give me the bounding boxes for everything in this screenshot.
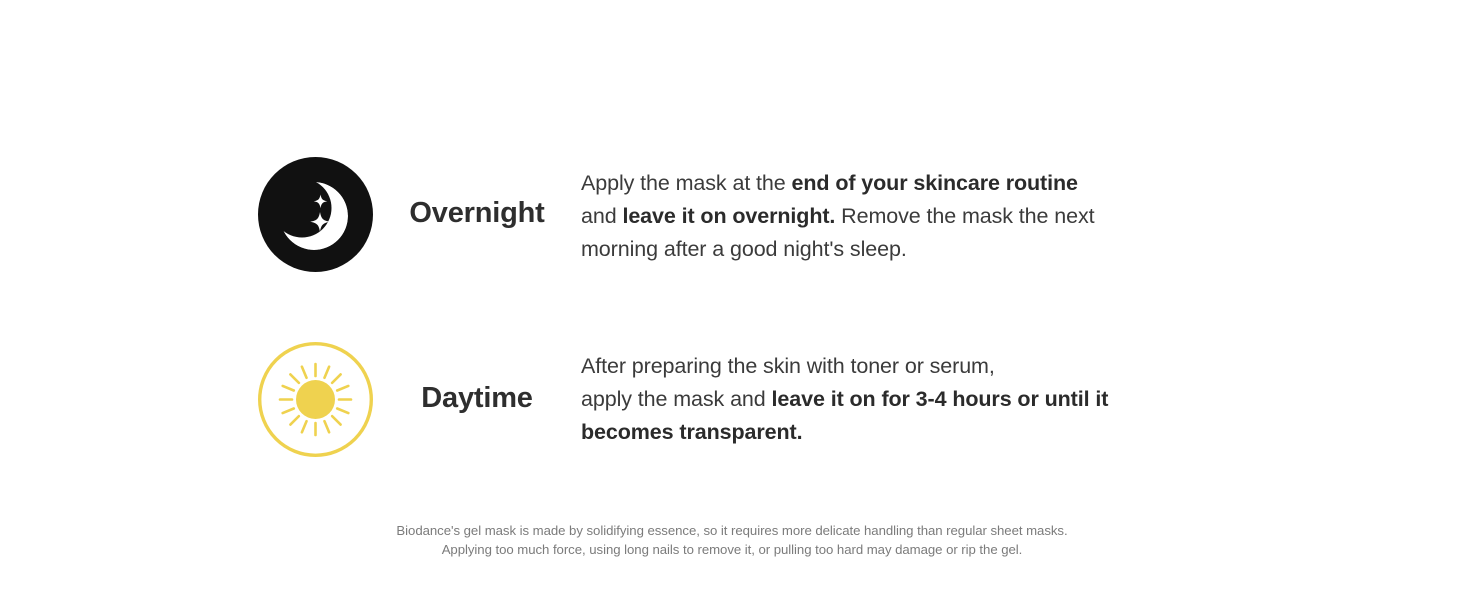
footnote: Biodance's gel mask is made by solidifyi… [0, 521, 1464, 559]
body-line: After preparing the skin with toner or s… [581, 350, 1201, 383]
body-text: After preparing the skin with toner or s… [581, 354, 995, 378]
body-line: becomes transparent. [581, 416, 1201, 449]
body-emphasis: end of your skincare routine [792, 171, 1078, 195]
footnote-line-2: Applying too much force, using long nail… [0, 540, 1464, 559]
row-label-daytime: Daytime [373, 384, 581, 413]
body-text: Apply the mask at the [581, 171, 792, 195]
moon-stars-icon [258, 157, 373, 272]
footnote-line-1: Biodance's gel mask is made by solidifyi… [0, 521, 1464, 540]
body-emphasis: leave it on for 3-4 hours or until it [772, 387, 1109, 411]
row-label-overnight: Overnight [373, 199, 581, 228]
instructions-panel: Overnight Apply the mask at the end of y… [0, 0, 1464, 600]
row-body-daytime: After preparing the skin with toner or s… [581, 350, 1201, 449]
body-line: morning after a good night's sleep. [581, 233, 1201, 266]
body-text: and [581, 204, 622, 228]
body-text: Remove the mask the next [835, 204, 1094, 228]
body-line: Apply the mask at the end of your skinca… [581, 167, 1201, 200]
sun-icon [258, 342, 373, 457]
body-line: apply the mask and leave it on for 3-4 h… [581, 383, 1201, 416]
body-emphasis: becomes transparent. [581, 420, 802, 444]
instruction-row-overnight: Overnight Apply the mask at the end of y… [258, 157, 1201, 272]
body-emphasis: leave it on overnight. [622, 204, 835, 228]
body-line: and leave it on overnight. Remove the ma… [581, 200, 1201, 233]
row-body-overnight: Apply the mask at the end of your skinca… [581, 167, 1201, 266]
body-text: apply the mask and [581, 387, 772, 411]
body-text: morning after a good night's sleep. [581, 237, 907, 261]
instruction-row-daytime: Daytime After preparing the skin with to… [258, 342, 1201, 457]
